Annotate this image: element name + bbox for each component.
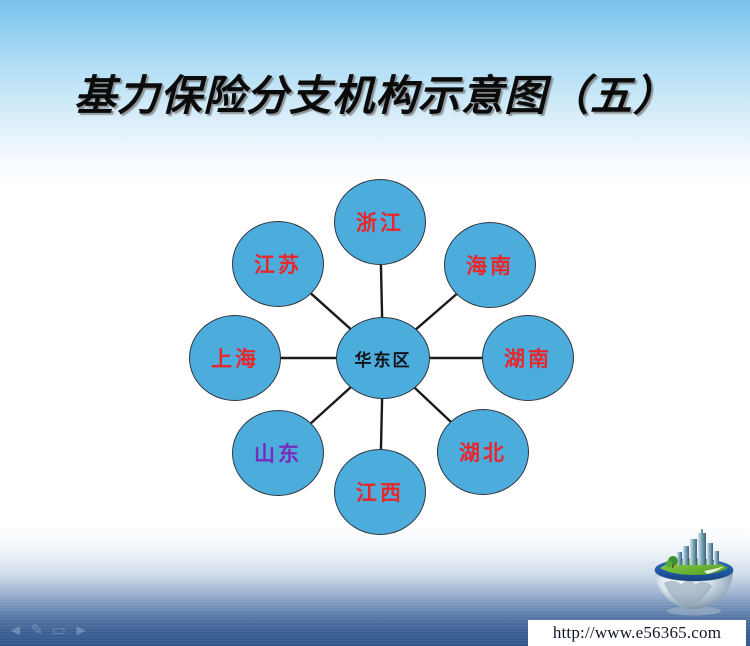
slide-canvas: 基力保险分支机构示意图（五） 浙江海南湖南湖北江西山东上海江苏华东区 bbox=[0, 0, 750, 646]
diagram-node-label: 江西 bbox=[356, 477, 404, 507]
diagram-node-label: 湖北 bbox=[459, 437, 507, 467]
diagram-node-branch[interactable]: 浙江 bbox=[334, 179, 426, 265]
diagram-node-label: 湖南 bbox=[504, 343, 552, 373]
slideshow-nav-controls[interactable]: ◄ ✎ ▭ ► bbox=[8, 620, 112, 640]
diagram-node-branch[interactable]: 湖南 bbox=[482, 315, 574, 401]
diagram-node-branch[interactable]: 山东 bbox=[232, 410, 324, 496]
diagram-node-label: 上海 bbox=[211, 343, 259, 373]
diagram-node-branch[interactable]: 海南 bbox=[444, 222, 536, 308]
previous-slide-icon[interactable]: ◄ bbox=[8, 623, 23, 638]
next-slide-icon[interactable]: ► bbox=[74, 623, 89, 638]
globe-city-logo bbox=[648, 527, 740, 619]
diagram-edge bbox=[416, 294, 458, 330]
website-url-text: http://www.e56365.com bbox=[553, 623, 721, 643]
diagram-node-label: 华东区 bbox=[355, 346, 412, 371]
diagram-node-label: 山东 bbox=[254, 438, 302, 468]
diagram-node-branch[interactable]: 上海 bbox=[189, 315, 281, 401]
org-structure-diagram: 浙江海南湖南湖北江西山东上海江苏华东区 bbox=[170, 160, 590, 540]
diagram-node-label: 海南 bbox=[466, 250, 514, 280]
diagram-edge bbox=[381, 264, 382, 318]
diagram-node-branch[interactable]: 湖北 bbox=[437, 409, 529, 495]
slide-menu-icon[interactable]: ▭ bbox=[51, 623, 65, 638]
diagram-node-branch[interactable]: 江西 bbox=[334, 449, 426, 535]
diagram-edge bbox=[381, 398, 382, 450]
pen-tool-icon[interactable]: ✎ bbox=[31, 623, 44, 638]
diagram-node-label: 浙江 bbox=[356, 207, 404, 237]
diagram-node-label: 江苏 bbox=[254, 249, 302, 279]
diagram-edge bbox=[310, 387, 351, 424]
diagram-node-branch[interactable]: 江苏 bbox=[232, 221, 324, 307]
diagram-edge bbox=[310, 293, 350, 329]
diagram-node-center[interactable]: 华东区 bbox=[336, 317, 430, 399]
diagram-edge bbox=[414, 387, 451, 422]
page-title: 基力保险分支机构示意图（五） bbox=[0, 62, 750, 123]
website-url-box[interactable]: http://www.e56365.com bbox=[528, 620, 746, 646]
